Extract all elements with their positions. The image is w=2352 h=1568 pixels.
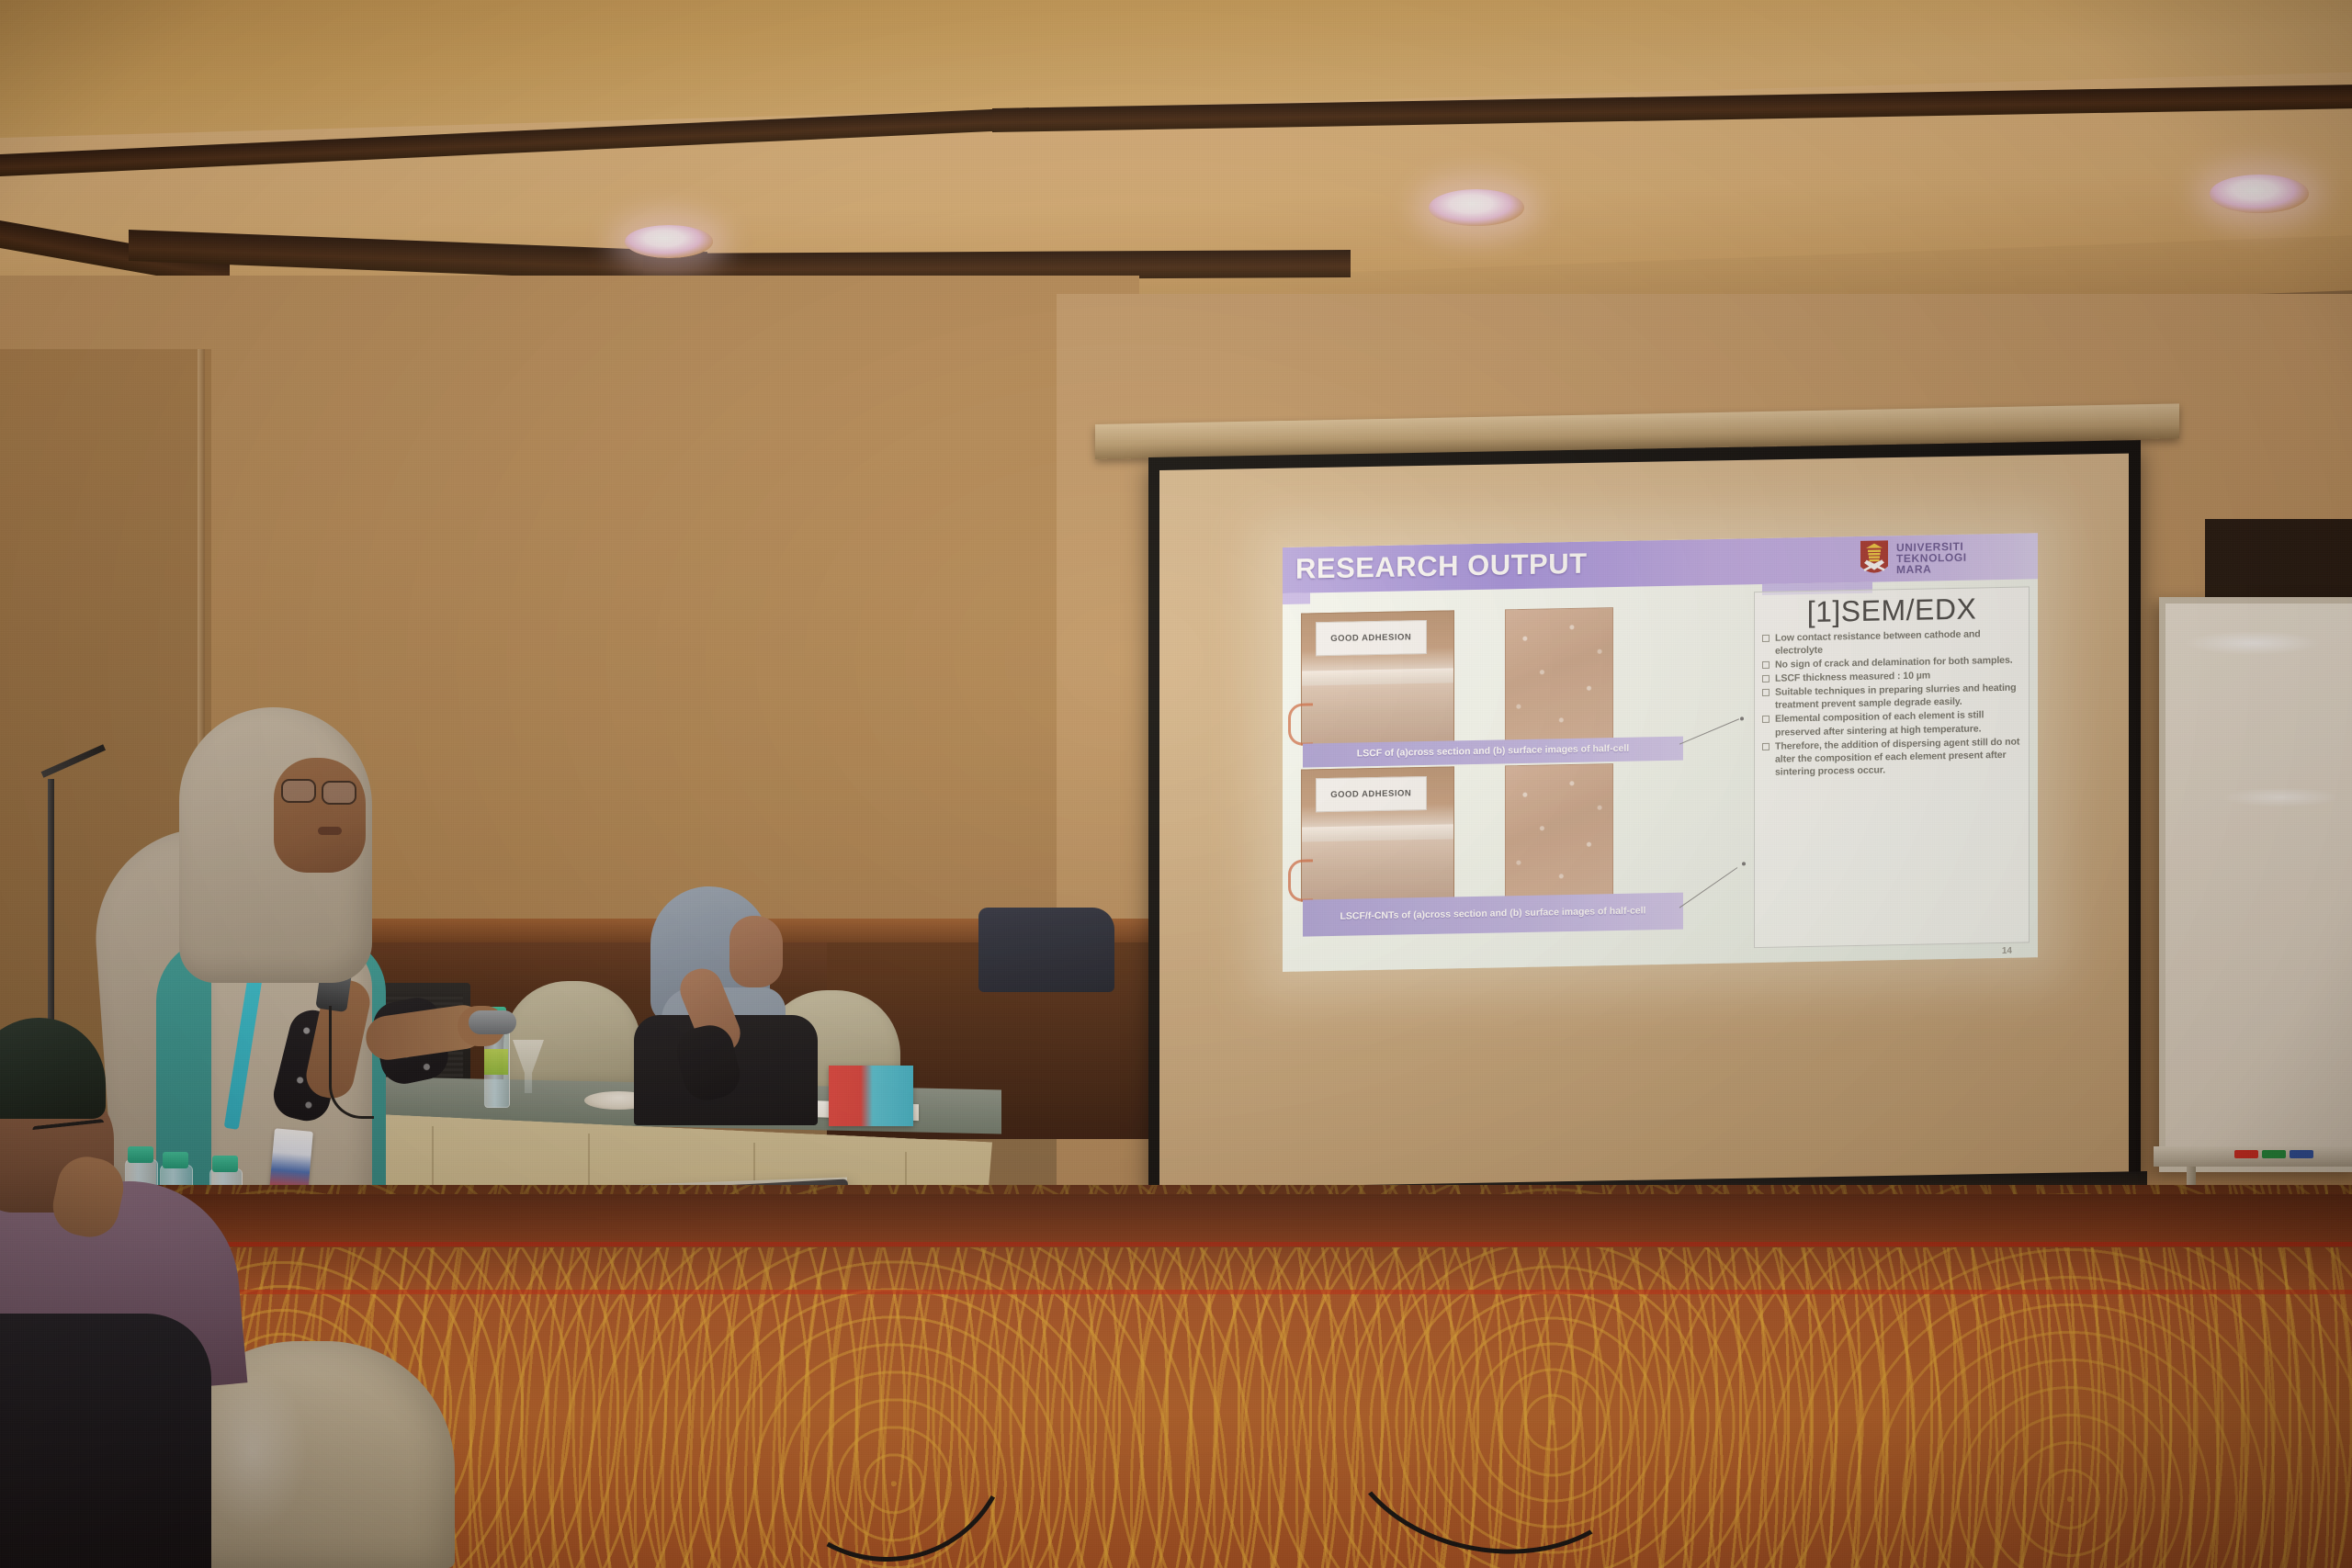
- sem-edx-panel: [1]SEM/EDX Low contact resistance betwee…: [1754, 586, 2030, 948]
- glasses-lens: [322, 781, 356, 805]
- audience-dark-clothing: [0, 1314, 211, 1568]
- slide-page-number: 14: [2002, 946, 2012, 956]
- sem-cross-section-image-2: GOOD ADHESION: [1301, 766, 1454, 901]
- whiteboard: [2159, 597, 2352, 1172]
- foreground-audience-member: [0, 1010, 331, 1568]
- sem-edx-bullet: Therefore, the addition of dispersing ag…: [1762, 735, 2021, 779]
- good-adhesion-label: GOOD ADHESION: [1316, 620, 1427, 657]
- ceiling-downlight-icon: [2210, 175, 2309, 213]
- presenter-glasses-icon: [281, 779, 366, 801]
- uitm-logo-text: UNIVERSITI TEKNOLOGI MARA: [1896, 541, 1967, 575]
- projected-slide: RESEARCH OUTPUT: [1283, 533, 2038, 972]
- figure-grouping-arc: [1288, 703, 1313, 746]
- figure-caption-2: LSCF/f-CNTs of (a)cross section and (b) …: [1303, 893, 1683, 937]
- sem-edx-bullet-list: Low contact resistance between cathode a…: [1762, 627, 2021, 779]
- whiteboard-glare: [2221, 787, 2340, 807]
- conference-room-scene: RESEARCH OUTPUT: [0, 0, 2352, 1568]
- marker-blue-icon: [2290, 1150, 2313, 1158]
- uitm-logo: UNIVERSITI TEKNOLOGI MARA: [1858, 535, 2032, 581]
- banquet-chair: [503, 981, 641, 1091]
- floor-shadow: [0, 1185, 2352, 1295]
- sem-edx-bullet: Suitable techniques in preparing slurrie…: [1762, 682, 2021, 713]
- leader-line-2: [1679, 867, 1738, 908]
- presentation-clicker[interactable]: [469, 1010, 516, 1034]
- sem-layer-bottom: [1302, 840, 1453, 901]
- marker-red-icon: [2234, 1150, 2258, 1158]
- ceiling-downlight-icon: [1429, 189, 1524, 226]
- uitm-line-3: MARA: [1896, 563, 1967, 575]
- whiteboard-glare: [2184, 631, 2322, 655]
- leader-line-1: [1679, 718, 1739, 744]
- uitm-crest-icon: [1858, 538, 1891, 580]
- presenter-face: [274, 758, 366, 873]
- leader-endpoint: [1742, 862, 1746, 865]
- sem-edx-bullet: Elemental composition of each element is…: [1762, 708, 2021, 739]
- microphone-cable: [329, 1006, 374, 1119]
- good-adhesion-label: GOOD ADHESION: [1316, 776, 1427, 813]
- sem-edx-heading: [1]SEM/EDX: [1762, 592, 2021, 630]
- sem-edx-bullet: Low contact resistance between cathode a…: [1762, 627, 2021, 659]
- sem-cross-section-image-1: GOOD ADHESION: [1301, 610, 1454, 745]
- panelist-face: [729, 916, 783, 987]
- sem-layer-bottom: [1302, 683, 1453, 745]
- laptop-bag: [978, 908, 1114, 992]
- bottle-label: [484, 1049, 508, 1075]
- figure-grouping-arc: [1288, 859, 1313, 902]
- audience-songkok-cap: [0, 1018, 106, 1119]
- slide-title: RESEARCH OUTPUT: [1295, 547, 1588, 586]
- presenter-mouth: [318, 827, 342, 835]
- glasses-lens: [281, 779, 316, 803]
- sem-surface-image-1: [1505, 607, 1613, 741]
- seated-panelist: [634, 886, 845, 1116]
- leader-endpoint: [1740, 716, 1744, 720]
- ceiling-downlight-icon: [625, 225, 713, 258]
- marker-green-icon: [2262, 1150, 2286, 1158]
- sem-surface-image-2: [1505, 763, 1613, 897]
- slide-body: GOOD ADHESION LSCF of (a)cross section a…: [1283, 579, 2038, 972]
